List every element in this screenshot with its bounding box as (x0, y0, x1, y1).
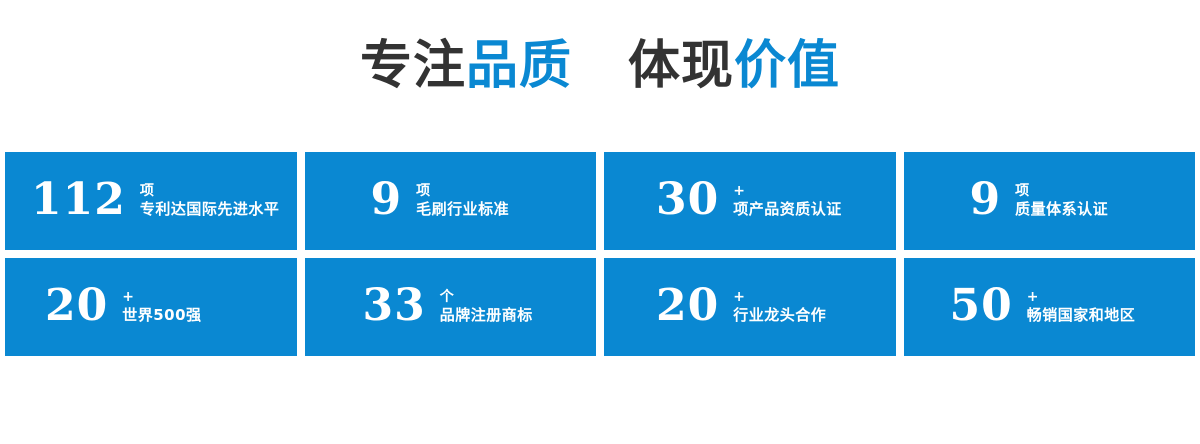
promo-banner: 专注品质体现价值 112 项 专利达国际先进水平 9 项 毛刷行业标准 (0, 0, 1200, 444)
stat-text-block: 项 毛刷行业标准 (416, 183, 509, 219)
stat-card-content: 20 + 世界500强 (41, 285, 202, 329)
stat-text-block: + 行业龙头合作 (733, 289, 826, 325)
stat-label: 专利达国际先进水平 (140, 200, 280, 219)
stat-text-block: + 畅销国家和地区 (1027, 289, 1136, 325)
stat-unit: 项 (140, 183, 280, 200)
stat-number: 20 (45, 284, 108, 328)
stat-card-content: 112 项 专利达国际先进水平 (27, 179, 279, 223)
stat-card: 20 + 行业龙头合作 (604, 258, 896, 356)
stat-card: 50 + 畅销国家和地区 (904, 258, 1196, 356)
stat-card-content: 33 个 品牌注册商标 (359, 285, 533, 329)
stat-unit: + (1027, 289, 1136, 306)
stat-card-content: 20 + 行业龙头合作 (652, 285, 826, 329)
stat-label: 世界500强 (122, 306, 201, 325)
stat-card: 30 + 项产品资质认证 (604, 152, 896, 250)
stat-card: 112 项 专利达国际先进水平 (5, 152, 297, 250)
stat-unit: 项 (1015, 183, 1108, 200)
stat-card: 33 个 品牌注册商标 (305, 258, 597, 356)
stat-card: 9 项 毛刷行业标准 (305, 152, 597, 250)
stat-card-content: 9 项 毛刷行业标准 (367, 179, 510, 223)
stat-text-block: + 项产品资质认证 (733, 183, 842, 219)
stat-number: 20 (656, 284, 719, 328)
stat-card-content: 9 项 质量体系认证 (966, 179, 1109, 223)
stat-unit: + (122, 289, 201, 306)
stat-card: 20 + 世界500强 (5, 258, 297, 356)
stat-unit: 项 (416, 183, 509, 200)
stat-text-block: 项 质量体系认证 (1015, 183, 1108, 219)
stat-unit: + (733, 183, 842, 200)
stat-text-block: + 世界500强 (122, 289, 201, 325)
stat-number: 33 (363, 284, 426, 328)
stat-number: 9 (970, 178, 1002, 222)
stat-label: 畅销国家和地区 (1027, 306, 1136, 325)
stat-number: 112 (31, 178, 126, 222)
stat-text-block: 个 品牌注册商标 (440, 289, 533, 325)
stat-card-content: 30 + 项产品资质认证 (652, 179, 842, 223)
stat-unit: 个 (440, 289, 533, 306)
stat-label: 质量体系认证 (1015, 200, 1108, 219)
stat-number: 30 (656, 178, 719, 222)
stat-label: 项产品资质认证 (733, 200, 842, 219)
stat-text-block: 项 专利达国际先进水平 (140, 183, 280, 219)
stat-unit: + (733, 289, 826, 306)
page-title: 专注品质体现价值 (0, 40, 1200, 92)
stats-grid: 112 项 专利达国际先进水平 9 项 毛刷行业标准 30 + (5, 152, 1195, 356)
headline-part2-dark: 体现 (628, 36, 734, 96)
stat-label: 行业龙头合作 (733, 306, 826, 325)
headline-part2-accent: 价值 (734, 36, 840, 96)
stat-card-content: 50 + 畅销国家和地区 (946, 285, 1136, 329)
stat-label: 品牌注册商标 (440, 306, 533, 325)
stat-label: 毛刷行业标准 (416, 200, 509, 219)
stat-number: 9 (371, 178, 403, 222)
stat-number: 50 (950, 284, 1013, 328)
headline-part1-accent: 品质 (466, 36, 572, 96)
stat-card: 9 项 质量体系认证 (904, 152, 1196, 250)
headline-part1-dark: 专注 (360, 36, 466, 96)
